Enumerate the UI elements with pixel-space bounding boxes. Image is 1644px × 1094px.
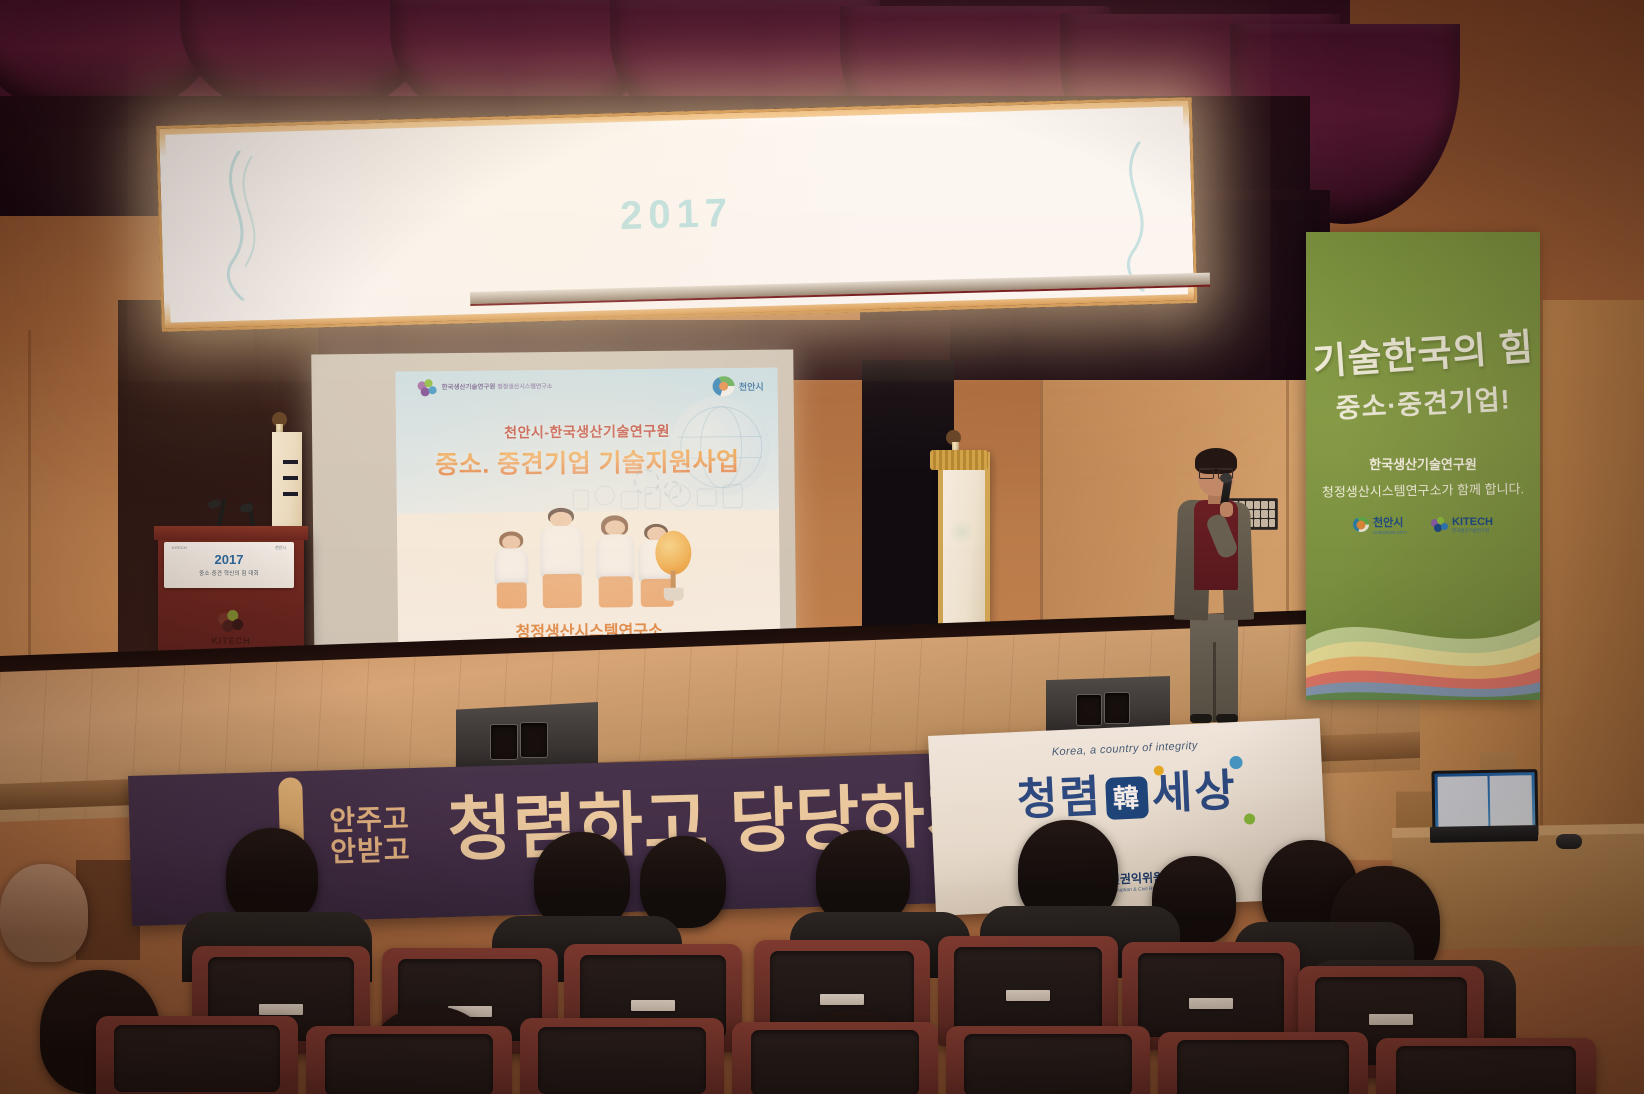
green-banner-body-1: 한국생산기술연구원 <box>1306 454 1540 473</box>
podium-sign-logo-left: KITECH <box>172 545 187 550</box>
cheonan-logo-text: 천안시 CHEONAN CITY <box>1373 514 1407 535</box>
slide-subtitle: 천안시-한국생산기술연구원 <box>396 420 778 444</box>
cheonan-logo: 천안시 CHEONAN CITY <box>1353 514 1407 535</box>
slide-title: 중소. 중견기업 기술지원사업 <box>396 442 778 482</box>
green-banner-headline-1: 기술한국의 힘 <box>1306 316 1540 386</box>
lightbox-text: 2017 <box>620 190 734 238</box>
auditorium-seat <box>732 1022 938 1094</box>
microphone-capsule <box>1220 473 1232 483</box>
kitech-logo-text: KITECH 한국생산기술연구원 <box>1452 516 1493 534</box>
podium-sign: KITECH 천안시 2017 중소·중견 혁신의 힘 대회 <box>164 542 294 588</box>
kitech-logo-icon <box>418 379 438 397</box>
audience-head-bald <box>0 864 88 962</box>
green-banner-wave-graphic <box>1306 550 1540 700</box>
integrity-seal-icon: 韓 <box>1105 776 1149 820</box>
auditorium-seat <box>520 1018 724 1094</box>
podium-year: 2017 <box>215 553 244 566</box>
audience-head <box>226 828 318 924</box>
presenter-speaker <box>1168 452 1254 722</box>
presenter-hand <box>1220 502 1233 517</box>
projection-screen: 한국생산기술연구원 청정생산시스템연구소 천안시 천안시-한국생산기술연구원 중… <box>395 368 780 668</box>
slide-person <box>537 508 587 608</box>
auditorium-seat <box>946 1026 1150 1094</box>
decorative-swirl-icon <box>190 150 284 302</box>
podium-top-surface <box>154 526 308 540</box>
slide-logo-kitech: 한국생산기술연구원 청정생산시스템연구소 <box>418 378 553 397</box>
cheonan-logo-icon <box>1353 517 1369 532</box>
slide-person <box>490 531 534 608</box>
slide-gear-icon <box>633 469 659 495</box>
slide-people-photo <box>481 503 696 609</box>
podium-caption: 중소·중견 혁신의 힘 대회 <box>199 569 259 577</box>
slide-logo-cheonan: 천안시 <box>713 376 764 397</box>
cheonan-logo-icon <box>713 376 735 396</box>
kitech-logo-icon <box>1431 517 1448 533</box>
conference-stage-photo: 2017 <box>0 0 1644 1094</box>
podium-wordmark: KITECH <box>211 636 251 646</box>
wall-seam <box>28 330 31 710</box>
slide-tree-graphic <box>653 531 694 601</box>
podium-sign-logo-right: 천안시 <box>275 545 286 551</box>
auditorium-seat <box>1158 1032 1368 1094</box>
slide-logo-kitech-text: 한국생산기술연구원 청정생산시스템연구소 <box>442 383 553 393</box>
green-banner-body-2: 청정생산시스템연구소가 함께 합니다. <box>1306 478 1540 501</box>
flag-fringe <box>930 450 988 470</box>
wall-seam <box>1540 300 1543 860</box>
green-promotional-banner: 기술한국의 힘 중소·중견기업! 한국생산기술연구원 청정생산시스템연구소가 함… <box>1306 232 1540 700</box>
podium-brand-logo: KITECH <box>211 610 251 646</box>
kitech-logo-icon <box>218 610 244 634</box>
audience-area <box>0 820 1644 1094</box>
presentation-slide: 한국생산기술연구원 청정생산시스템연구소 천안시 천안시-한국생산기술연구원 중… <box>395 368 780 668</box>
auditorium-seat <box>306 1026 512 1094</box>
green-banner-logo-row: 천안시 CHEONAN CITY KITECH 한국생산기술연구원 <box>1306 514 1540 535</box>
auditorium-seat <box>1376 1038 1596 1094</box>
auditorium-seat <box>96 1016 298 1094</box>
flag-emblem <box>950 520 974 546</box>
kitech-logo: KITECH 한국생산기술연구원 <box>1431 516 1493 534</box>
slide-person <box>592 516 638 608</box>
slide-logo-cheonan-text: 천안시 <box>739 379 764 392</box>
presenter-shoe <box>1190 714 1212 723</box>
decorative-swirl-icon <box>1090 140 1184 292</box>
presenter-leg-seam <box>1213 642 1216 722</box>
audience-head <box>640 836 726 928</box>
